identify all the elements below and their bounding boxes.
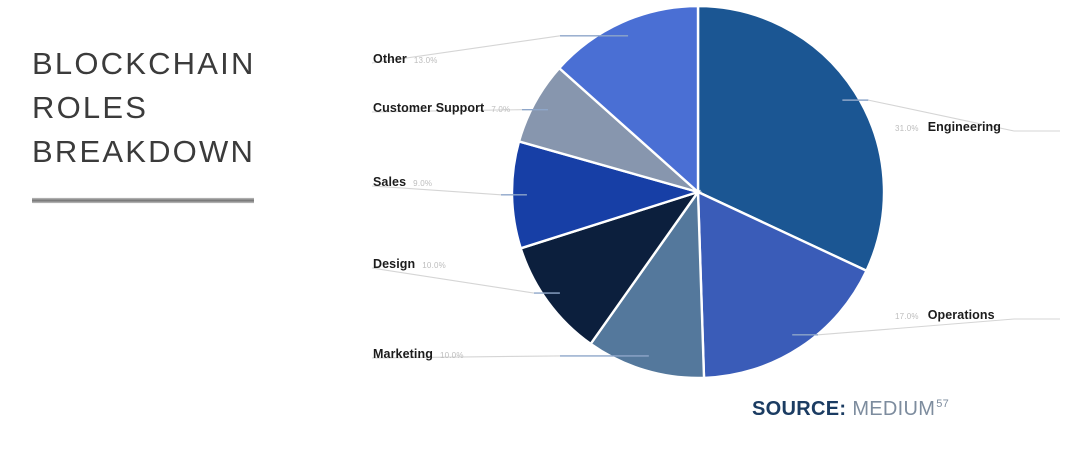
pie-label-percent: 10.0% [440, 351, 464, 360]
pie-label-name: Marketing [373, 347, 433, 361]
pie-label-marketing[interactable]: Marketing10.0% [373, 347, 464, 362]
pie-label-customer-support[interactable]: Customer Support7.0% [373, 101, 510, 116]
pie-label-name: Operations [928, 308, 995, 322]
source-credit: SOURCE:MEDIUM57 [752, 398, 949, 421]
pie-label-name: Engineering [928, 120, 1001, 134]
pie-label-design[interactable]: Design10.0% [373, 257, 446, 272]
pie-label-sales[interactable]: Sales9.0% [373, 175, 432, 190]
pie-label-percent: 7.0% [491, 105, 510, 114]
pie-label-percent: 13.0% [414, 56, 438, 65]
pie-label-operations[interactable]: 17.0%Operations [895, 308, 995, 323]
pie-slice-group [512, 6, 884, 378]
source-footnote: 57 [936, 398, 949, 410]
infographic-slide: BLOCKCHAIN ROLES BREAKDOWN 31.0%Engineer… [0, 0, 1069, 468]
pie-chart-svg [0, 0, 1069, 400]
pie-label-percent: 9.0% [413, 179, 432, 188]
source-prefix: SOURCE: [752, 398, 846, 420]
source-name: MEDIUM [852, 398, 935, 420]
pie-label-name: Other [373, 52, 407, 66]
pie-label-other[interactable]: Other13.0% [373, 52, 438, 67]
pie-label-percent: 10.0% [422, 261, 446, 270]
pie-label-name: Sales [373, 175, 406, 189]
pie-label-engineering[interactable]: 31.0%Engineering [895, 120, 1001, 135]
pie-label-percent: 31.0% [895, 124, 919, 133]
pie-label-name: Design [373, 257, 415, 271]
pie-label-percent: 17.0% [895, 312, 919, 321]
pie-chart: 31.0%Engineering17.0%OperationsMarketing… [0, 0, 1069, 400]
pie-label-name: Customer Support [373, 101, 484, 115]
